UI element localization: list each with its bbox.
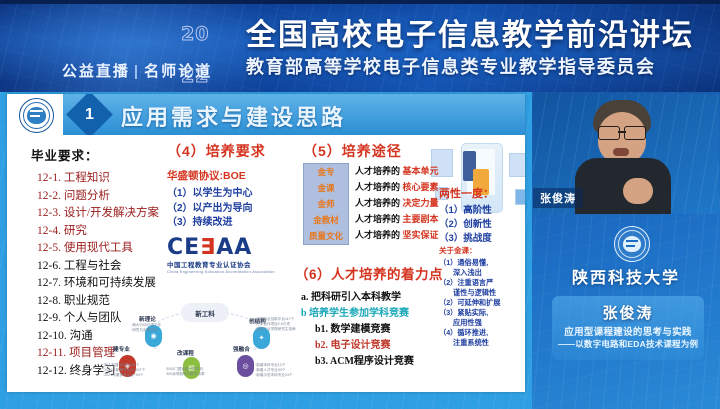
- ceaa-e-glyph: ∃: [200, 235, 216, 260]
- slide-body: 毕业要求： 12-1. 工程知识12-2. 问题分析12-3. 设计/开发解决方…: [7, 135, 525, 392]
- tagline-right: 名师论道: [144, 63, 212, 80]
- ceaa-wordmark: CE∃AA: [167, 237, 295, 259]
- speaker-hand: [623, 178, 653, 204]
- infographic-hub: 新工科: [181, 303, 229, 322]
- two-properties-heading: 两性一度：: [439, 185, 525, 201]
- webinar-screen: C E F R 20 22 公益直播|名师论道 全国高校电子信息教学前沿讲坛 教…: [0, 0, 720, 409]
- section-5-training-path: （5）培养途径: [303, 141, 431, 161]
- ceaa-english-name: China Engineering Education Accreditatio…: [167, 269, 295, 274]
- training-path-key: 金教材: [304, 212, 348, 228]
- university-seal-icon: [614, 226, 650, 262]
- banner-tagline: 公益直播|名师论道: [42, 60, 232, 81]
- section-6-item: b2. 电子设计竞赛: [301, 338, 520, 354]
- emblem-core: [27, 107, 46, 124]
- talk-title: 应用型课程建设的思考与实践: [552, 324, 704, 338]
- glasses-icon: [597, 126, 647, 138]
- tagline-left: 公益直播: [62, 63, 130, 80]
- graduation-item: 12-3. 设计/开发解决方案: [37, 205, 173, 223]
- iso-box-2: [509, 153, 525, 177]
- training-path-key: 金师: [304, 196, 348, 212]
- training-path-key: 金课: [304, 180, 348, 196]
- speaker-mouth: [613, 148, 629, 156]
- university-name: 陕西科技大学: [532, 264, 720, 288]
- infographic-note-4: ·产教融合创新平台117个·产学合作项目2.6万项·现代产业学院研究生培养: [255, 317, 296, 332]
- speaker-video[interactable]: 张俊涛: [533, 94, 719, 214]
- event-banner: C E F R 20 22 公益直播|名师论道 全国高校电子信息教学前沿讲坛 教…: [0, 0, 720, 92]
- graduation-item: 12-1. 工程知识: [37, 170, 173, 188]
- banner-title: 全国高校电子信息教学前沿讲坛: [246, 10, 694, 54]
- graduation-item: 12-5. 使用现代工具: [37, 240, 173, 258]
- slide-header: 1 应用需求与建设思路: [7, 94, 525, 135]
- training-path-value: 人才培养的 决定力量: [355, 195, 439, 211]
- section-5-heading: （5）培养途径: [303, 141, 431, 161]
- washington-accord-label: 华盛顿协议:BOE: [167, 168, 295, 183]
- section-6-list: a. 把科研引入本科教学b 培养学生参加学科竞赛b1. 数学建模竞赛b2. 电子…: [301, 290, 520, 370]
- infographic-label-1: 新理论: [139, 315, 156, 323]
- training-path-value: 人才培养的 坚实保证: [355, 227, 439, 243]
- training-path-key: 质量文化: [304, 228, 348, 244]
- infographic-note-1: ·两大行动引领工作·研究与实践项目: [131, 323, 161, 333]
- cefr-letter-r: R: [140, 10, 176, 52]
- training-path-key: 金专: [304, 164, 348, 180]
- infographic-note-5: ·新增本科专业12个·新增人才专业50个·新增示范本科专业23个: [255, 363, 293, 378]
- section-number: 1: [73, 98, 106, 131]
- talk-subtitle: ——以数字电路和EDA技术课程为例: [552, 338, 704, 350]
- talk-info-card: 张俊涛 应用型课程建设的思考与实践 ——以数字电路和EDA技术课程为例: [552, 296, 704, 360]
- section-4-heading: （4）培养要求: [167, 141, 295, 161]
- two-properties-one-degree: 两性一度： （1）高阶性（2）创新性（3）挑战度: [439, 185, 525, 246]
- ceaa-aa: AA: [216, 235, 252, 260]
- cefr-letter-c: C: [40, 10, 75, 52]
- two-properties-item: （3）挑战度: [439, 232, 525, 246]
- cefr-letter-e: E: [75, 10, 107, 52]
- section-4-item: （3）持续改进: [167, 216, 295, 231]
- cefr-letter-f: F: [107, 10, 139, 52]
- slide-title: 应用需求与建设思路: [121, 100, 346, 132]
- cefr-logo: C E F R 20 22 公益直播|名师论道: [36, 8, 232, 88]
- ceaa-ce: CE: [167, 235, 200, 260]
- training-path-values-column: 人才培养的 基本单元人才培养的 核心要素人才培养的 决定力量人才培养的 主要剧本…: [355, 163, 439, 245]
- training-path-value: 人才培养的 基本单元: [355, 163, 439, 179]
- graduation-item: 12-6. 工程与社会: [37, 258, 173, 276]
- two-properties-item: （2）创新性: [439, 218, 525, 232]
- two-properties-list: （1）高阶性（2）创新性（3）挑战度: [439, 204, 525, 246]
- graduation-item: 12-4. 研究: [37, 223, 173, 241]
- section-6-item: b3. ACM程序设计竞赛: [301, 354, 520, 370]
- training-path-value: 人才培养的 主要剧本: [355, 211, 439, 227]
- graduation-item: 12-7. 环境和可持续发展: [37, 275, 173, 293]
- section-4-list: （1）以学生为中心（2）以产出为导向（3）持续改进: [167, 187, 295, 231]
- slide-stage: 1 应用需求与建设思路 毕业要求： 12-1: [0, 92, 532, 409]
- section-4-training-requirements: （4）培养要求 华盛顿协议:BOE （1）以学生为中心（2）以产出为导向（3）持…: [167, 141, 295, 274]
- two-properties-item: （1）高阶性: [439, 204, 525, 218]
- seal-core: [623, 236, 641, 252]
- section-6-item: a. 把科研引入本科教学: [301, 290, 520, 306]
- section-4-item: （1）以学生为中心: [167, 187, 295, 202]
- graduation-item: 12-2. 问题分析: [37, 188, 173, 206]
- section-6-item: b1. 数学建模竞赛: [301, 322, 520, 338]
- university-emblem-icon: [19, 98, 54, 133]
- infographic-label-4: 强融合: [233, 345, 250, 353]
- training-path-keys-column: 金专金课金师金教材质量文化: [303, 163, 349, 245]
- about-gold-heading: 关于金课：: [439, 245, 525, 256]
- infographic-label-2: 建专业: [113, 345, 130, 353]
- xingongke-infographic: 新工科 ◉ ◈ ▤ ◎ ✦ 新理论 建专业 改课程 强融合 创结构 ·两大行动引…: [103, 303, 308, 391]
- infographic-note-2: ·新工科建设试点395个·2021年新增专业点2037个·2021年撤销专业点7…: [103, 363, 145, 378]
- section-6-focus-points: （6）人才培养的着力点 a. 把科研引入本科教学b 培养学生参加学科竞赛b1. …: [295, 263, 520, 370]
- section-4-item: （2）以产出为导向: [167, 202, 295, 217]
- infographic-note-3: ·3000门国家级一流本科·300余项新时代教学改革: [165, 367, 205, 377]
- tagline-separator: |: [134, 63, 140, 80]
- ceaa-logo: CE∃AA 中国工程教育专业认证协会 China Engineering Edu…: [167, 237, 295, 274]
- speaker-figure: [567, 100, 677, 214]
- training-path-table: 金专金课金师金教材质量文化 人才培养的 基本单元人才培养的 核心要素人才培养的 …: [303, 163, 439, 245]
- infographic-node-4: ◎: [237, 355, 254, 377]
- speaker-name-tag: 张俊涛: [533, 188, 583, 208]
- presentation-slide: 1 应用需求与建设思路 毕业要求： 12-1: [7, 94, 525, 392]
- banner-subtitle: 教育部高等学校电子信息类专业教学指导委员会: [246, 53, 656, 79]
- training-path-value: 人才培养的 核心要素: [355, 179, 439, 195]
- infographic-label-3: 改课程: [177, 349, 194, 357]
- graduation-heading: 毕业要求：: [31, 145, 173, 164]
- ceaa-chinese-name: 中国工程教育专业认证协会: [167, 259, 295, 269]
- section-6-item: b 培养学生参加学科竞赛: [301, 306, 520, 322]
- talk-speaker-name: 张俊涛: [552, 302, 704, 323]
- cefr-year-top: 20: [181, 13, 209, 55]
- section-6-heading: （6）人才培养的着力点: [295, 263, 520, 283]
